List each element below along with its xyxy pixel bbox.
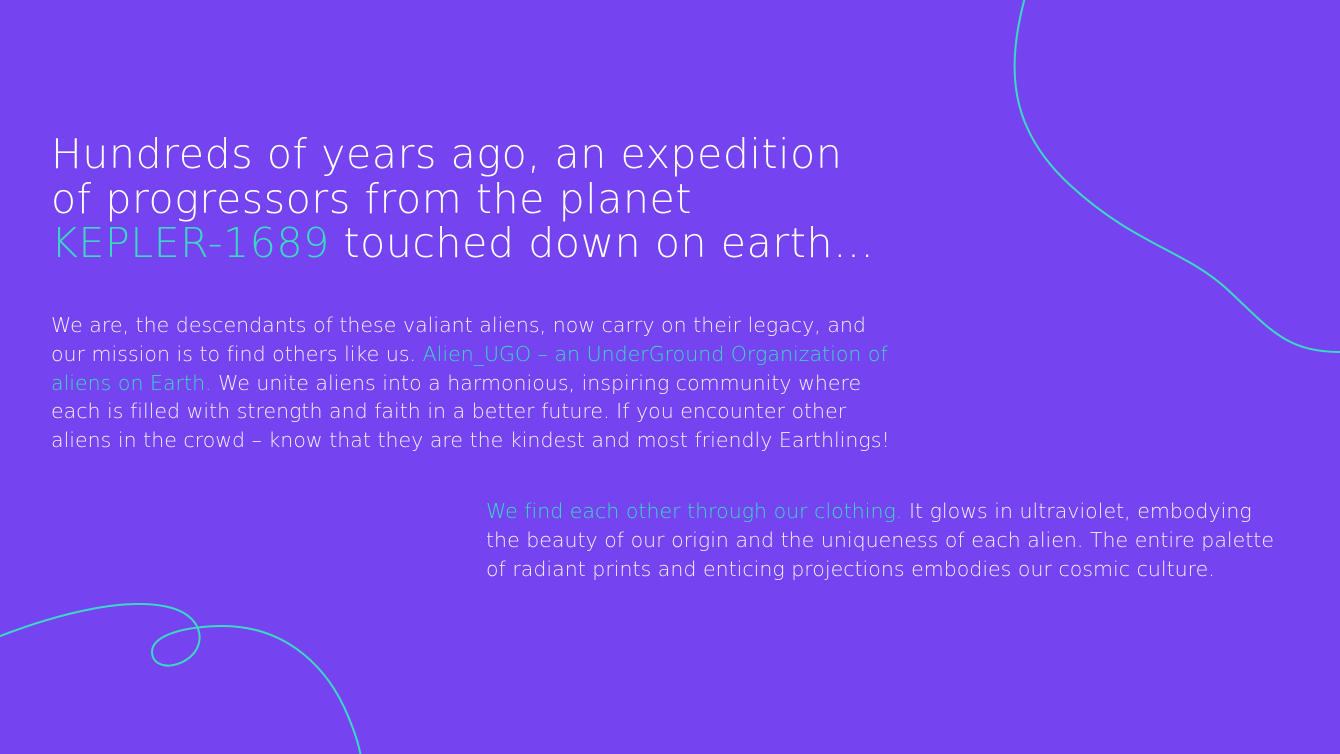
paragraph-two-highlight: We find each other through our clothing. (486, 499, 902, 523)
slide-content: Hundreds of years ago, an expedition of … (0, 0, 1340, 754)
headline-line-three-tail: touched down on earth… (330, 219, 875, 267)
headline-line-two: of progressors from the planet (51, 175, 692, 223)
paragraph-clothing: We find each other through our clothing.… (486, 497, 1276, 583)
headline-planet-name: KEPLER-1689 (51, 219, 330, 267)
headline-line-one: Hundreds of years ago, an expedition (51, 130, 842, 178)
slide-canvas: Hundreds of years ago, an expedition of … (0, 0, 1340, 754)
paragraph-mission: We are, the descendants of these valiant… (51, 311, 896, 455)
page-title: Hundreds of years ago, an expedition of … (51, 132, 1051, 266)
